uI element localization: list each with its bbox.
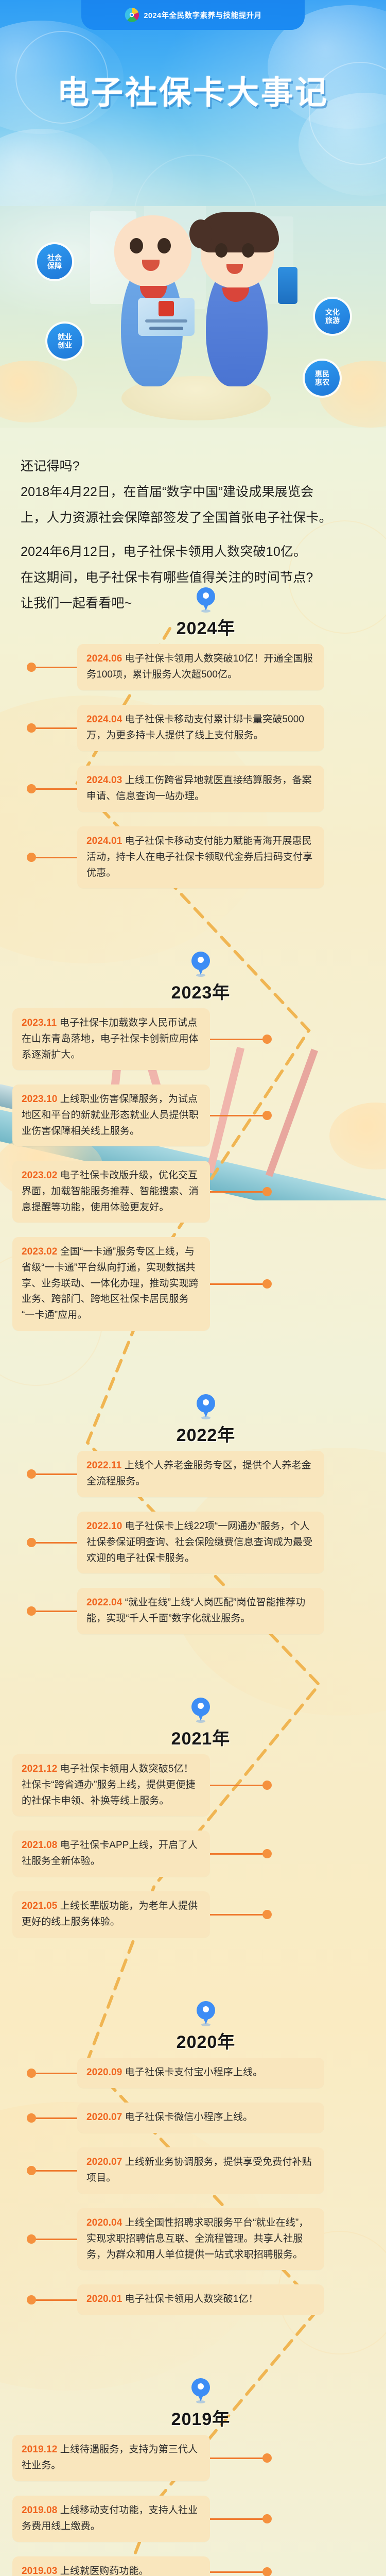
timeline-year-2021: 2021年 xyxy=(149,1698,252,1750)
card-subtitle-line xyxy=(149,327,183,330)
timeline-event-card: 2022.04 “就业在线”上线“人岗匹配”岗位智能推荐功能，实现“千人千面”数… xyxy=(77,1588,324,1634)
timeline-event-card: 2022.11 上线个人养老金服务专区，提供个人养老金全流程服务。 xyxy=(77,1451,324,1497)
mascot-boy-eye-right xyxy=(157,238,171,253)
mascot-girl-eye-left xyxy=(215,243,227,258)
page-title: 电子社保卡大事记 xyxy=(0,77,386,109)
connector-line xyxy=(210,1039,267,1040)
connector-line xyxy=(31,1611,77,1612)
decorative-cloud xyxy=(0,361,77,422)
event-date: 2023.11 xyxy=(22,1018,60,1028)
event-text: 电子社保卡领用人数突破1亿！ xyxy=(125,2294,258,2304)
connector-dot xyxy=(27,2295,36,2304)
event-date: 2024.06 xyxy=(86,653,125,664)
event-date: 2022.11 xyxy=(86,1460,125,1471)
national-emblem-icon xyxy=(159,301,174,316)
event-date: 2020.09 xyxy=(86,2067,125,2078)
connector-dot xyxy=(262,1849,272,1858)
event-date: 2020.07 xyxy=(86,2112,125,2123)
connector-line xyxy=(31,2073,77,2074)
tag-social-security: 社会保障 xyxy=(37,244,72,279)
tag-benefit-farmers: 惠民惠农 xyxy=(305,361,340,396)
map-pin-icon xyxy=(191,952,210,977)
event-text: 上线就医购药功能。 xyxy=(60,2566,149,2576)
connector-dot xyxy=(262,1279,272,1289)
connector-dot xyxy=(262,2453,272,2463)
connector-dot xyxy=(262,2514,272,2523)
timeline-event-card: 2023.02 全国“一卡通”服务专区上线，与省级“一卡通”平台纵向打通，实现数… xyxy=(12,1237,210,1331)
connector-line xyxy=(31,788,77,790)
mascot-girl-ponytail xyxy=(189,219,212,248)
connector-line xyxy=(210,2458,267,2459)
event-date: 2021.08 xyxy=(22,1840,60,1851)
event-date: 2022.10 xyxy=(86,1521,125,1532)
timeline-event-card: 2021.12 电子社保卡领用人数突破5亿！社保卡“跨省通办”服务上线，提供更便… xyxy=(12,1754,210,1816)
connector-line xyxy=(210,1914,267,1916)
card-title-line xyxy=(145,319,187,323)
timeline-event-card: 2019.12 上线待遇服务，支持为第三代人社业务。 xyxy=(12,2435,210,2481)
mascot-illustration: 社会保障 文化旅游 就业创业 惠民惠农 xyxy=(0,206,386,443)
timeline-event-card: 2023.11 电子社保卡加载数字人民币试点在山东青岛落地，电子社保卡创新应用体… xyxy=(12,1008,210,1070)
connector-line xyxy=(31,857,77,858)
infographic-page: 2024年全民数字素养与技能提升月 电子社保卡大事记 xyxy=(0,0,386,2576)
connector-line xyxy=(210,1115,267,1116)
timeline-year-2023: 2023年 xyxy=(149,952,252,1004)
year-label: 2019年 xyxy=(149,2405,252,2430)
timeline-event-card: 2021.05 上线长辈版功能，为老年人提供更好的线上服务体验。 xyxy=(12,1891,210,1938)
connector-dot xyxy=(27,2234,36,2244)
connector-dot xyxy=(262,2567,272,2576)
event-date: 2020.01 xyxy=(86,2294,125,2304)
connector-dot xyxy=(27,2069,36,2078)
mascot-girl-eye-right xyxy=(242,243,254,258)
connector-line xyxy=(210,1191,267,1193)
event-text: 电子社保卡微信小程序上线。 xyxy=(125,2112,253,2123)
timeline-event-card: 2020.01 电子社保卡领用人数突破1亿！ xyxy=(77,2284,324,2315)
connector-dot xyxy=(262,1111,272,1120)
event-text: 全国“一卡通”服务专区上线，与省级“一卡通”平台纵向打通，实现数据共享、业务联动… xyxy=(22,1246,199,1320)
intro-line-1: 还记得吗? xyxy=(21,453,360,479)
timeline-event-card: 2023.02 电子社保卡改版升级，优化交互界面，加载智能服务推荐、智能搜索、消… xyxy=(12,1161,210,1223)
connector-dot xyxy=(27,2113,36,2123)
connector-line xyxy=(210,1853,267,1855)
social-security-card xyxy=(138,298,195,336)
event-banner-text: 2024年全民数字素养与技能提升月 xyxy=(144,10,261,21)
connector-dot xyxy=(27,723,36,733)
map-pin-icon xyxy=(191,2378,210,2404)
timeline-event-card: 2024.03 上线工伤跨省异地就医直接结算服务，备案申请、信息查询一站办理。 xyxy=(77,766,324,812)
connector-dot xyxy=(27,853,36,862)
intro-line-2: 2018年4月22日，在首届“数字中国”建设成果展览会 xyxy=(21,479,360,505)
mascot-boy-eye-left xyxy=(130,238,143,253)
year-label: 2023年 xyxy=(149,978,252,1004)
event-date: 2019.12 xyxy=(22,2444,60,2455)
connector-line xyxy=(31,2239,77,2240)
timeline-year-2020: 2020年 xyxy=(154,2001,257,2053)
connector-line xyxy=(210,2571,267,2573)
connector-dot xyxy=(27,2166,36,2175)
connector-dot xyxy=(262,1187,272,1196)
timeline-event-card: 2023.10 上线职业伤害保障服务，为试点地区和平台的新就业形态就业人员提供职… xyxy=(12,1084,210,1146)
event-date: 2020.04 xyxy=(86,2217,125,2228)
connector-dot xyxy=(27,1469,36,1479)
timeline-event-card: 2024.01 电子社保卡移动支付能力赋能青海开展惠民活动，持卡人在电子社保卡领… xyxy=(77,826,324,888)
mascot-boy-head xyxy=(114,215,191,287)
connector-dot xyxy=(262,1910,272,1919)
timeline-event-card: 2020.09 电子社保卡支付宝小程序上线。 xyxy=(77,2058,324,2088)
event-date: 2024.04 xyxy=(86,714,125,725)
timeline-event-card: 2020.07 电子社保卡微信小程序上线。 xyxy=(77,2103,324,2133)
connector-line xyxy=(31,667,77,668)
year-label: 2020年 xyxy=(154,2028,257,2053)
year-label: 2021年 xyxy=(149,1724,252,1750)
timeline-event-card: 2019.03 上线就医购药功能。 xyxy=(12,2556,210,2576)
connector-line xyxy=(31,2299,77,2301)
connector-line xyxy=(31,1542,77,1544)
event-date: 2024.01 xyxy=(86,836,125,846)
event-date: 2020.07 xyxy=(86,2157,125,2167)
event-date: 2023.10 xyxy=(22,1094,60,1105)
event-text: 电子社保卡支付宝小程序上线。 xyxy=(125,2067,262,2078)
timeline-year-2024: 2024年 xyxy=(154,587,257,639)
timeline-event-card: 2019.08 上线移动支付功能，支持人社业务费用线上缴费。 xyxy=(12,2496,210,2542)
year-label: 2022年 xyxy=(154,1421,257,1446)
event-banner: 2024年全民数字素养与技能提升月 xyxy=(81,0,305,30)
timeline: 2024年2024.06 电子社保卡领用人数突破10亿！开通全国服务100项，累… xyxy=(0,567,386,2576)
timeline-year-2019: 2019年 xyxy=(149,2378,252,2430)
event-date: 2019.08 xyxy=(22,2505,60,2516)
intro-line-3: 上，人力资源社会保障部签发了全国首张电子社保卡。 xyxy=(21,505,360,531)
connector-dot xyxy=(27,663,36,672)
timeline-year-2022: 2022年 xyxy=(154,1394,257,1446)
event-date: 2022.04 xyxy=(86,1597,125,1608)
connector-line xyxy=(31,2117,77,2119)
timeline-event-card: 2024.04 电子社保卡移动支付累计绑卡量突破5000万，为更多持卡人提供了线… xyxy=(77,705,324,751)
connector-line xyxy=(31,2170,77,2172)
map-pin-icon xyxy=(191,1698,210,1723)
digital-literacy-spiral-logo-icon xyxy=(124,7,139,23)
tag-culture-tourism: 文化旅游 xyxy=(315,299,350,334)
event-date: 2024.03 xyxy=(86,775,125,786)
smartphone-icon xyxy=(278,267,297,304)
connector-dot xyxy=(262,1781,272,1790)
year-label: 2024年 xyxy=(154,614,257,639)
tag-employment: 就业创业 xyxy=(47,324,82,359)
connector-line xyxy=(210,1785,267,1786)
event-date: 2023.02 xyxy=(22,1170,60,1181)
map-pin-icon xyxy=(197,2001,215,2027)
event-date: 2021.05 xyxy=(22,1901,60,1911)
connector-dot xyxy=(27,1606,36,1616)
timeline-event-card: 2022.10 电子社保卡上线22项“一网通办”服务，个人社保参保证明查询、社会… xyxy=(77,1512,324,1573)
connector-dot xyxy=(262,1035,272,1044)
connector-dot xyxy=(27,1538,36,1547)
event-date: 2021.12 xyxy=(22,1764,60,1774)
map-pin-icon xyxy=(197,587,215,613)
timeline-event-card: 2020.07 上线新业务协调服务，提供享受免费付补贴项目。 xyxy=(77,2147,324,2194)
connector-dot xyxy=(27,784,36,793)
connector-line xyxy=(31,727,77,729)
connector-line xyxy=(31,1473,77,1475)
intro-line-4: 2024年6月12日，电子社保卡领用人数突破10亿。 xyxy=(21,539,360,565)
event-date: 2023.02 xyxy=(22,1246,60,1257)
connector-line xyxy=(210,1283,267,1285)
event-date: 2019.03 xyxy=(22,2566,60,2576)
map-pin-icon xyxy=(197,1394,215,1420)
connector-line xyxy=(210,2518,267,2520)
timeline-event-card: 2020.04 上线全国性招聘求职服务平台“就业在线”，实现求职招聘信息互联、全… xyxy=(77,2208,324,2270)
timeline-event-card: 2021.08 电子社保卡APP上线，开启了人社服务全新体验。 xyxy=(12,1831,210,1877)
timeline-event-card: 2024.06 电子社保卡领用人数突破10亿！开通全国服务100项，累计服务人次… xyxy=(77,644,324,690)
